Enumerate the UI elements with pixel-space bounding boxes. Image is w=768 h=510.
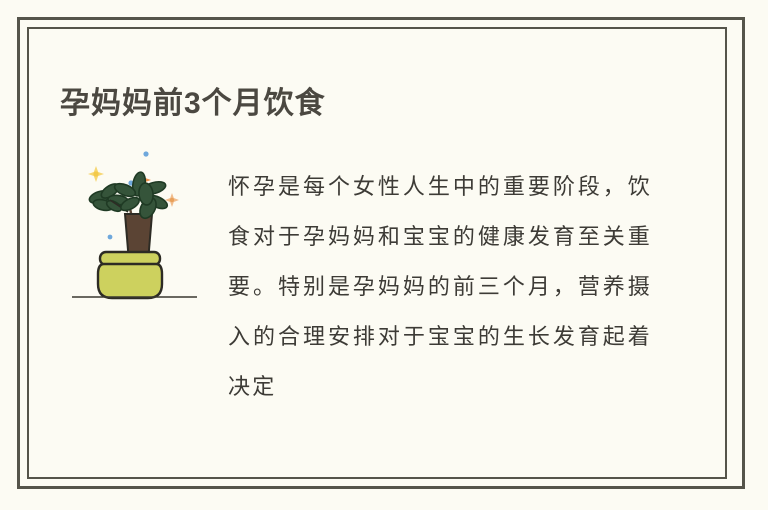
sparkle-dot-blue-low <box>108 235 113 240</box>
pot-body <box>98 264 162 298</box>
page-title: 孕妈妈前3个月饮食 <box>60 84 326 124</box>
article-body: 怀孕是每个女性人生中的重要阶段，饮食对于孕妈妈和宝宝的健康发育至关重要。特别是孕… <box>228 163 652 413</box>
article-body-text: 怀孕是每个女性人生中的重要阶段，饮食对于孕妈妈和宝宝的健康发育至关重要。特别是孕… <box>228 163 652 413</box>
sparkle-star-yellow <box>88 166 104 182</box>
sparkle-dot-blue-top <box>143 151 148 156</box>
document-page: 孕妈妈前3个月饮食 <box>0 0 768 510</box>
potted-plant-illustration <box>62 142 212 307</box>
